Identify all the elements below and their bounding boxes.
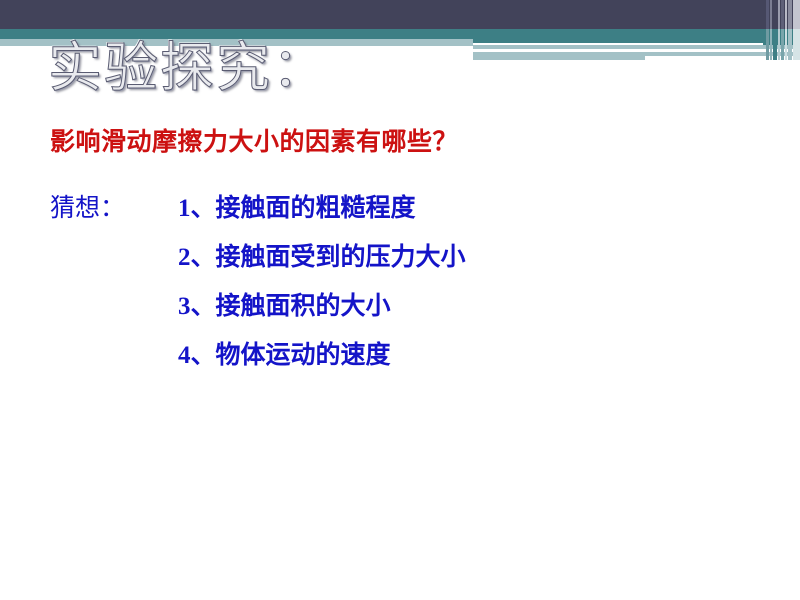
header-stripe-8 <box>793 0 800 60</box>
header-stripe-4 <box>778 0 780 60</box>
header-stripe-6 <box>785 0 787 60</box>
page-title: 实验探究： <box>48 41 328 95</box>
header-stripe-7 <box>788 0 792 60</box>
list-item: 4、物体运动的速度 <box>178 343 466 368</box>
header-stripe-5 <box>781 0 784 60</box>
question-subtitle: 影响滑动摩擦力大小的因素有哪些？ <box>50 122 458 158</box>
header-stripe-2 <box>770 0 772 60</box>
list-item: 2、接触面受到的压力大小 <box>178 245 466 270</box>
header-dark-band <box>0 0 800 29</box>
hypothesis-list: 1、接触面的粗糙程度 2、接触面受到的压力大小 3、接触面积的大小 4、物体运动… <box>178 196 466 392</box>
header-stripe-1 <box>766 0 769 60</box>
list-item: 1、接触面的粗糙程度 <box>178 196 466 221</box>
hypothesis-label: 猜想： <box>50 188 125 224</box>
list-item: 3、接触面积的大小 <box>178 294 466 319</box>
slide-canvas: 实验探究： 影响滑动摩擦力大小的因素有哪些？ 猜想： 1、接触面的粗糙程度 2、… <box>0 0 800 600</box>
header-stripe-3 <box>773 0 777 60</box>
